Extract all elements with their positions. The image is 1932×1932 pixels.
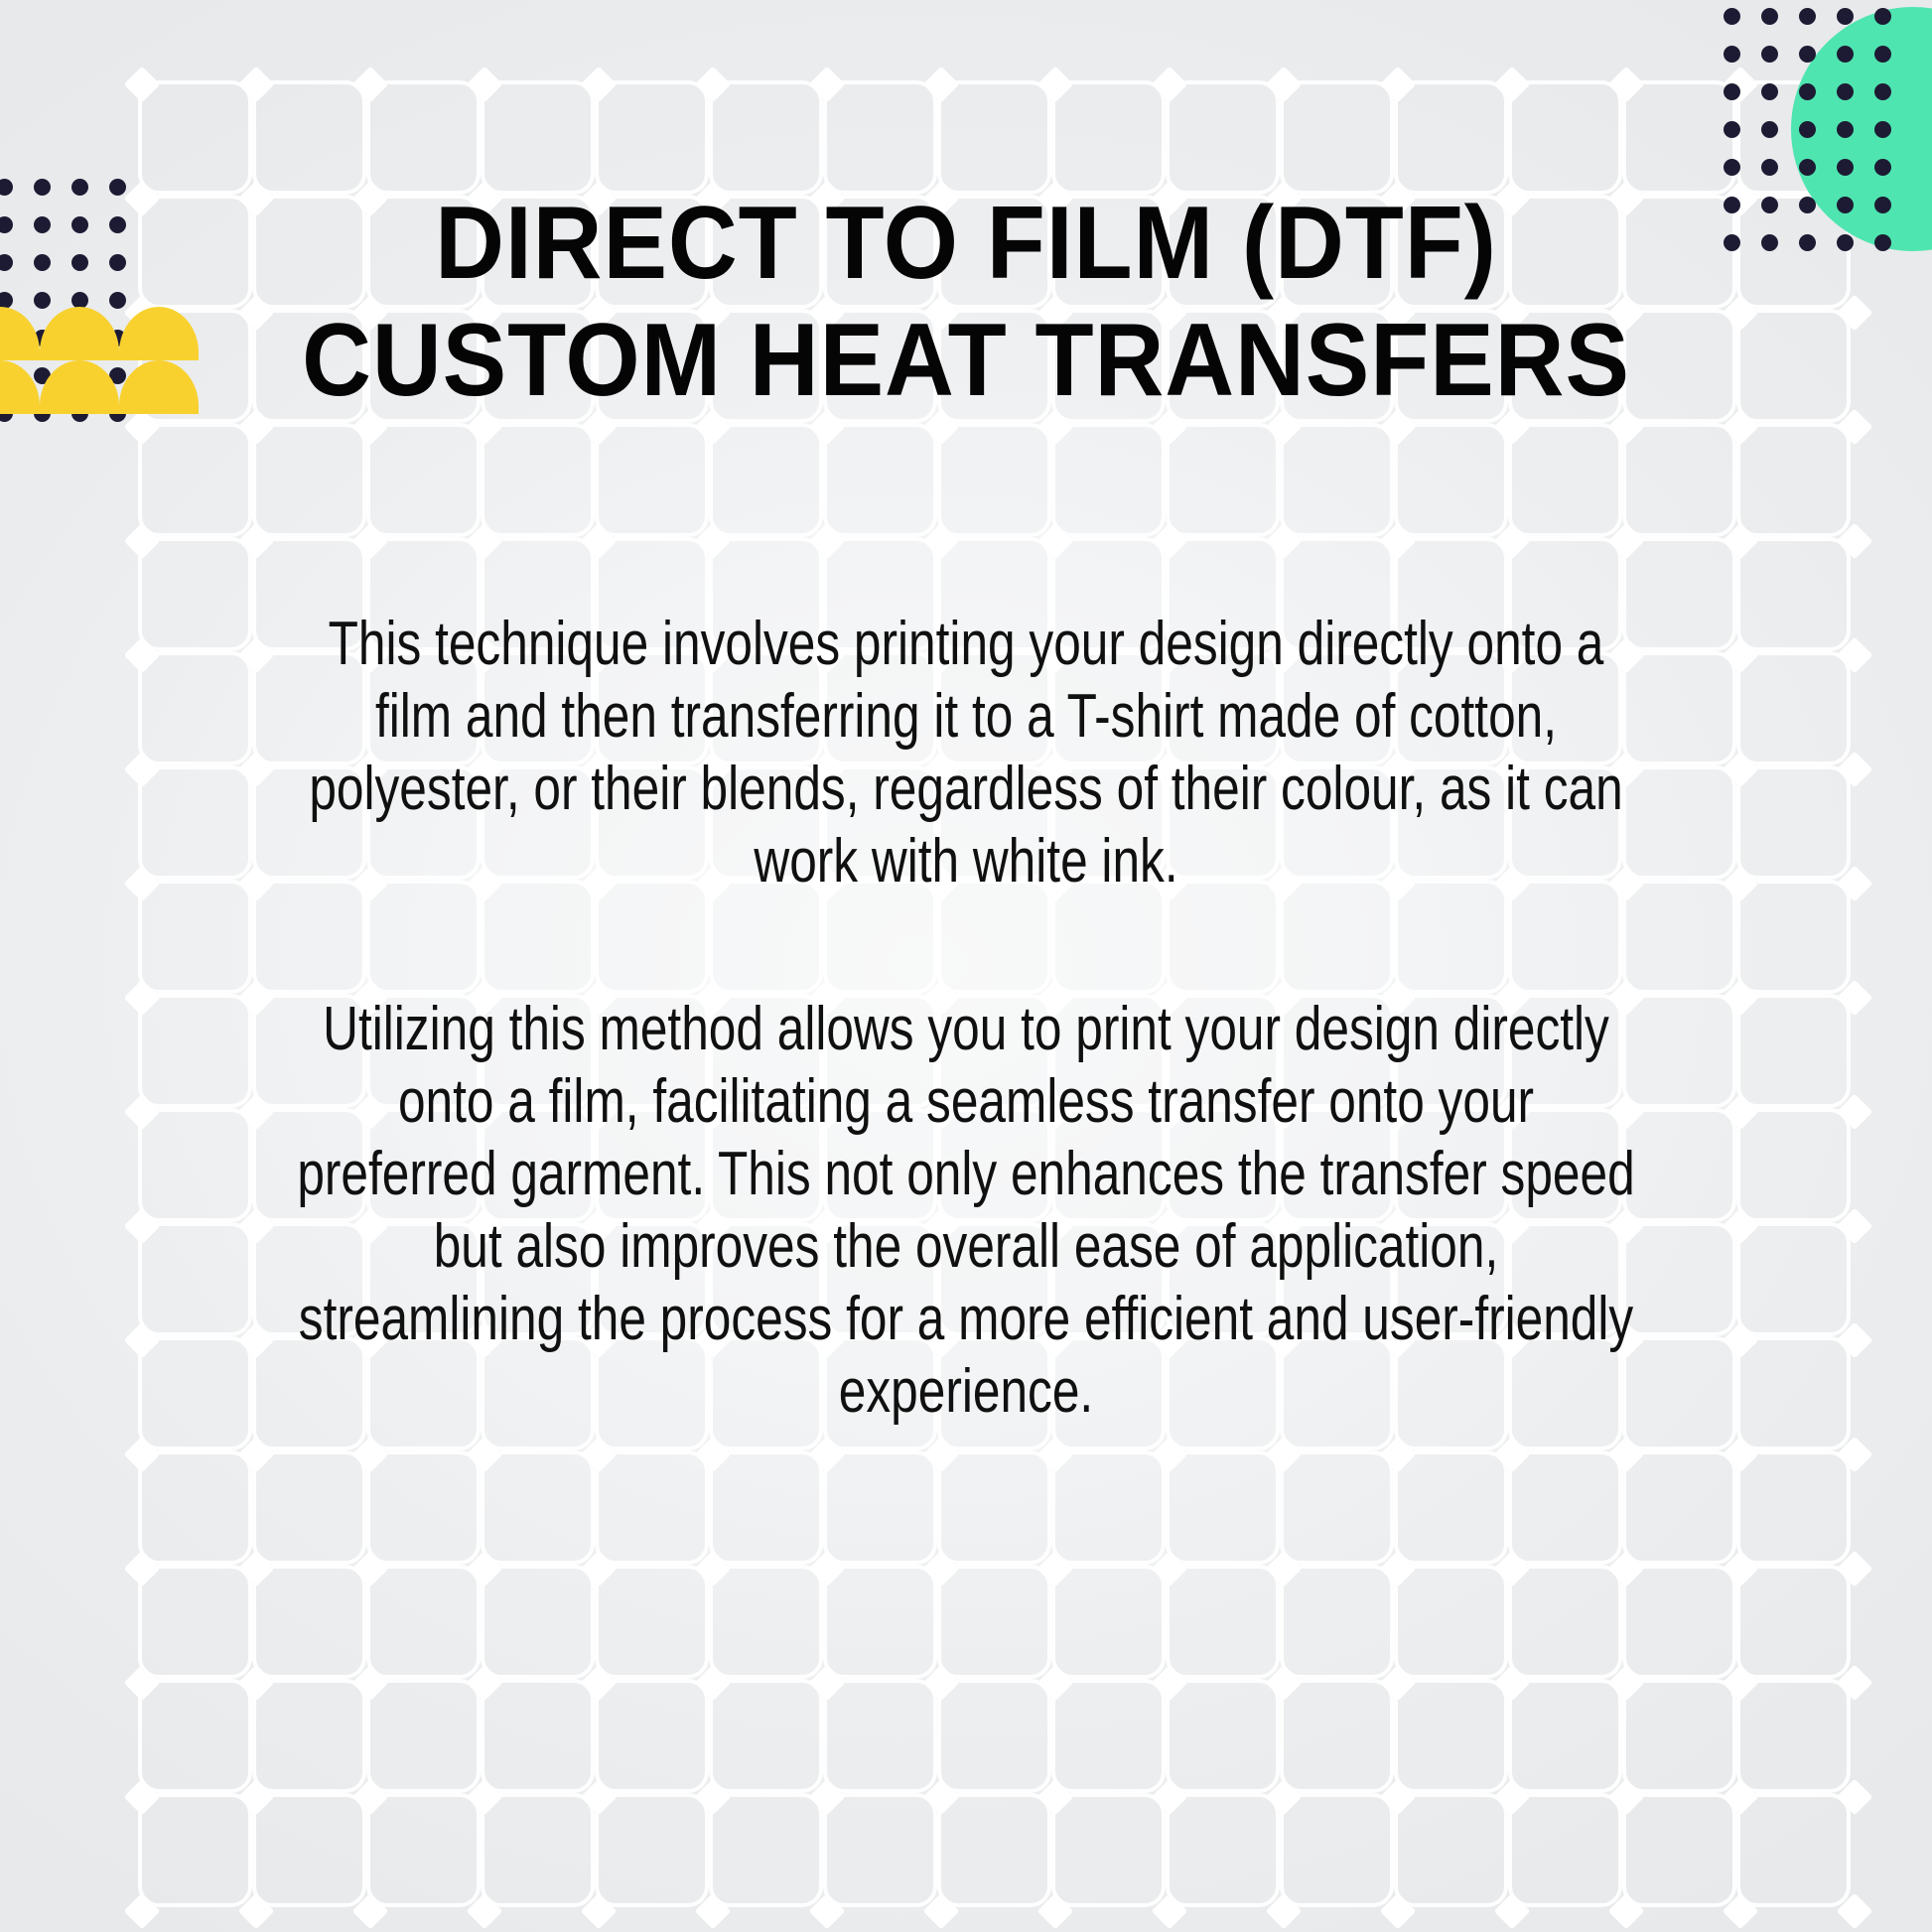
page-title-line-1: DIRECT TO FILM (DTF) [292,185,1640,302]
content-area: DIRECT TO FILM (DTF) CUSTOM HEAT TRANSFE… [0,0,1932,1932]
body-copy: This technique involves printing your de… [127,608,1805,1428]
page-title-line-2: CUSTOM HEAT TRANSFERS [292,302,1640,419]
page-title: DIRECT TO FILM (DTF) CUSTOM HEAT TRANSFE… [241,185,1691,419]
poster-canvas: DIRECT TO FILM (DTF) CUSTOM HEAT TRANSFE… [0,0,1932,1932]
body-paragraph-2: Utilizing this method allows you to prin… [295,993,1637,1428]
body-paragraph-1: This technique involves printing your de… [295,608,1637,897]
